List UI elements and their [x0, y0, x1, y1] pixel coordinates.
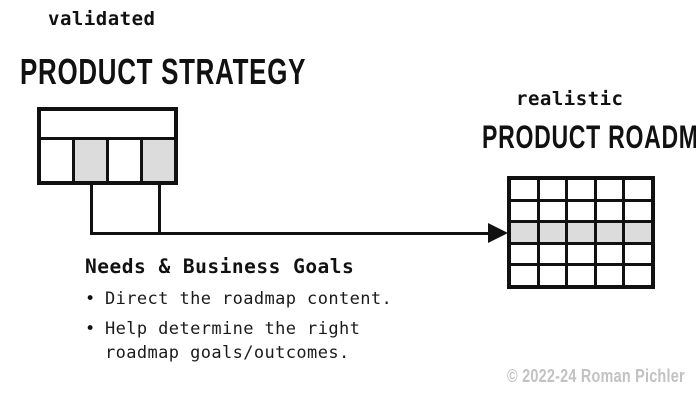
connector-horizontal-line	[90, 232, 498, 235]
product-strategy-cell	[143, 140, 174, 181]
roadmap-cell	[568, 266, 597, 285]
product-strategy-box	[37, 107, 178, 185]
roadmap-cell	[597, 202, 626, 221]
roadmap-cell	[511, 202, 540, 221]
product-strategy-cell	[109, 140, 143, 181]
roadmap-cell	[597, 266, 626, 285]
roadmap-cell	[540, 180, 569, 199]
roadmap-cell	[625, 180, 651, 199]
roadmap-cell	[511, 180, 540, 199]
roadmap-cell	[625, 223, 651, 242]
roadmap-cell	[511, 245, 540, 264]
product-roadmap-title: PRODUCT ROADMAP	[482, 119, 696, 156]
list-item: • Help determine the right roadmap goals…	[85, 317, 505, 365]
diagram-canvas: validated PRODUCT STRATEGY realistic PRO…	[0, 0, 696, 404]
roadmap-cell	[540, 223, 569, 242]
roadmap-cell	[568, 180, 597, 199]
roadmap-cell	[511, 266, 540, 285]
connector-arrowhead-icon	[488, 223, 508, 243]
roadmap-cell	[511, 223, 540, 242]
roadmap-cell	[597, 223, 626, 242]
roadmap-row-highlighted	[511, 223, 651, 245]
roadmap-cell	[540, 266, 569, 285]
roadmap-cell	[568, 245, 597, 264]
list-item-text: Direct the roadmap content.	[105, 287, 392, 311]
bullet-icon: •	[85, 287, 105, 311]
list-item-text: Help determine the right roadmap goals/o…	[105, 317, 360, 365]
roadmap-cell	[625, 266, 651, 285]
roadmap-cell	[540, 245, 569, 264]
product-roadmap-caption: realistic	[516, 88, 623, 110]
product-strategy-cell	[75, 140, 109, 181]
roadmap-cell	[568, 202, 597, 221]
roadmap-cell	[625, 202, 651, 221]
copyright-notice: © 2022-24 Roman Pichler	[507, 366, 685, 387]
connector-drop-line-left	[90, 185, 93, 235]
roadmap-row	[511, 180, 651, 202]
needs-and-business-goals-block: Needs & Business Goals • Direct the road…	[85, 255, 505, 371]
roadmap-row	[511, 245, 651, 267]
connector-drop-line-right	[158, 185, 161, 235]
product-strategy-title: PRODUCT STRATEGY	[20, 51, 306, 93]
product-strategy-cells-row	[41, 140, 174, 181]
roadmap-cell	[597, 245, 626, 264]
roadmap-row	[511, 202, 651, 224]
roadmap-cell	[540, 202, 569, 221]
roadmap-cell	[568, 223, 597, 242]
product-strategy-cell	[41, 140, 75, 181]
roadmap-cell	[625, 245, 651, 264]
product-strategy-header-row	[41, 111, 174, 140]
roadmap-row	[511, 266, 651, 285]
bullet-icon: •	[85, 317, 105, 341]
product-strategy-caption: validated	[48, 8, 155, 30]
needs-and-business-goals-heading: Needs & Business Goals	[85, 255, 505, 278]
product-roadmap-grid	[507, 176, 655, 289]
roadmap-cell	[597, 180, 626, 199]
list-item: • Direct the roadmap content.	[85, 287, 505, 311]
